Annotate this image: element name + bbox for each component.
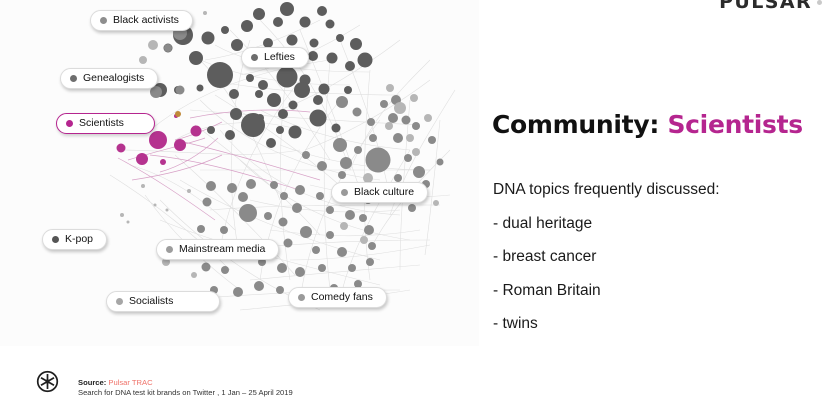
cluster-dot-icon bbox=[70, 75, 77, 82]
headline-community-name: Scientists bbox=[667, 110, 802, 139]
cluster-label-socialists[interactable]: Socialists bbox=[106, 291, 220, 312]
community-network-graph: Black activists Lefties Genealogists Sci… bbox=[0, 0, 479, 346]
pulsar-asterisk-logo-icon bbox=[36, 370, 59, 393]
cluster-dot-icon bbox=[166, 246, 173, 253]
cluster-label-scientists[interactable]: Scientists bbox=[56, 113, 155, 134]
cluster-dot-icon bbox=[341, 189, 348, 196]
cluster-label-lefties[interactable]: Lefties bbox=[241, 47, 309, 68]
cluster-label-text: Black activists bbox=[113, 15, 179, 26]
cluster-label-comedy-fans[interactable]: Comedy fans bbox=[288, 287, 387, 308]
cluster-dot-icon bbox=[66, 120, 73, 127]
footer: Source: Pulsar TRAC Search for DNA test … bbox=[0, 366, 840, 400]
cluster-dot-icon bbox=[298, 294, 305, 301]
cluster-label-mainstream-media[interactable]: Mainstream media bbox=[156, 239, 279, 260]
network-graph-canvas bbox=[0, 0, 479, 346]
cluster-label-text: Lefties bbox=[264, 52, 295, 63]
content-column: Community: Scientists DNA topics frequen… bbox=[492, 0, 840, 346]
footer-text: Source: Pulsar TRAC Search for DNA test … bbox=[78, 378, 293, 398]
cluster-label-k-pop[interactable]: K-pop bbox=[42, 229, 107, 250]
headline-prefix: Community: bbox=[492, 110, 659, 139]
cluster-label-genealogists[interactable]: Genealogists bbox=[60, 68, 158, 89]
graph-node-accent bbox=[175, 111, 181, 117]
cluster-label-text: Comedy fans bbox=[311, 292, 373, 303]
cluster-label-text: Mainstream media bbox=[179, 244, 265, 255]
cluster-dot-icon bbox=[52, 236, 59, 243]
cluster-label-black-activists[interactable]: Black activists bbox=[90, 10, 193, 31]
footer-source-line: Source: Pulsar TRAC bbox=[78, 378, 293, 388]
topic-item: - Roman Britain bbox=[493, 283, 720, 299]
cluster-label-text: Socialists bbox=[129, 296, 173, 307]
cluster-label-text: Genealogists bbox=[83, 73, 144, 84]
topics-block: DNA topics frequently discussed: - dual … bbox=[493, 182, 720, 350]
cluster-label-text: Black culture bbox=[354, 187, 414, 198]
footer-description: Search for DNA test kit brands on Twitte… bbox=[78, 388, 293, 398]
topic-item: - dual heritage bbox=[493, 216, 720, 232]
cluster-dot-icon bbox=[251, 54, 258, 61]
cluster-label-text: Scientists bbox=[79, 118, 124, 129]
cluster-label-black-culture[interactable]: Black culture bbox=[331, 182, 428, 203]
topic-item: - twins bbox=[493, 316, 720, 332]
topic-item: - breast cancer bbox=[493, 249, 720, 265]
cluster-dot-icon bbox=[116, 298, 123, 305]
cluster-dot-icon bbox=[100, 17, 107, 24]
page-title: Community: Scientists bbox=[492, 112, 803, 137]
footer-source-value[interactable]: Pulsar TRAC bbox=[108, 378, 152, 387]
footer-source-label: Source: bbox=[78, 378, 106, 387]
cluster-label-text: K-pop bbox=[65, 234, 93, 245]
topics-heading: DNA topics frequently discussed: bbox=[493, 182, 720, 198]
